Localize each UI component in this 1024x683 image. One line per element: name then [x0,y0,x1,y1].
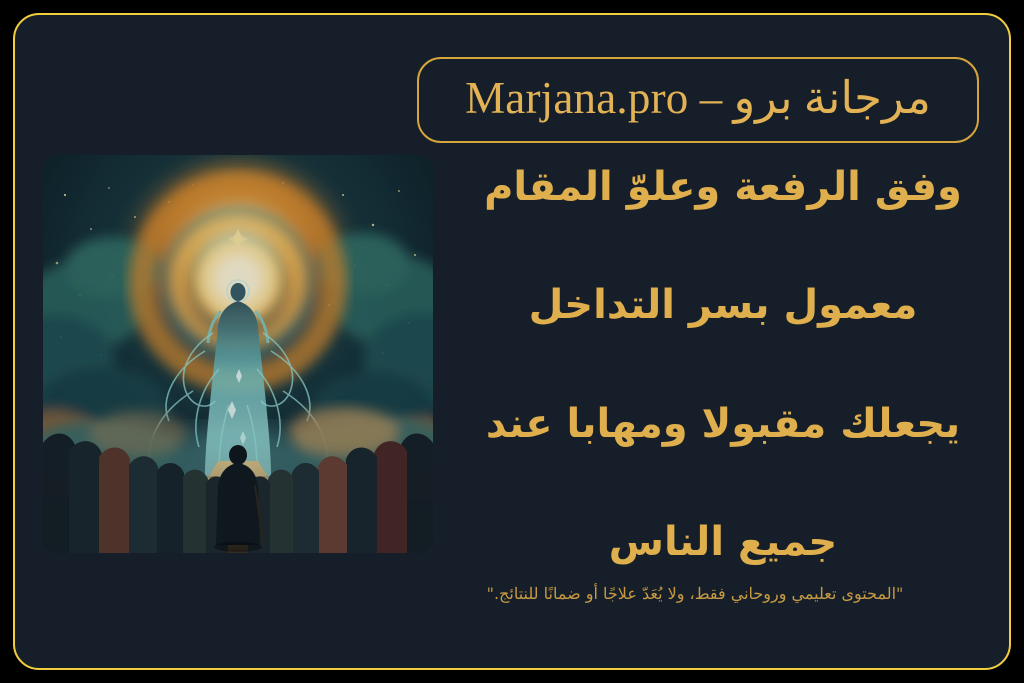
headline-line-4: جميع الناس [443,520,1003,565]
headline-line-2: معمول بسر التداخل [443,283,1003,328]
disclaimer-text: "المحتوى تعليمي وروحاني فقط، ولا يُعَدّ … [395,583,995,605]
spiritual-ascension-illustration [43,155,433,553]
headline-line-3: يجعلك مقبولا ومهابا عند [443,402,1003,447]
headline-block: وفق الرفعة وعلوّ المقام معمول بسر التداخ… [443,165,1003,565]
poster-card: مرجانة برو – Marjana.pro [13,13,1011,670]
brand-badge-label: مرجانة برو – Marjana.pro [465,76,931,125]
brand-badge: مرجانة برو – Marjana.pro [417,57,979,143]
headline-line-1: وفق الرفعة وعلوّ المقام [443,165,1003,210]
illustration-panel [43,155,433,553]
poster-root: مرجانة برو – Marjana.pro [0,0,1024,683]
